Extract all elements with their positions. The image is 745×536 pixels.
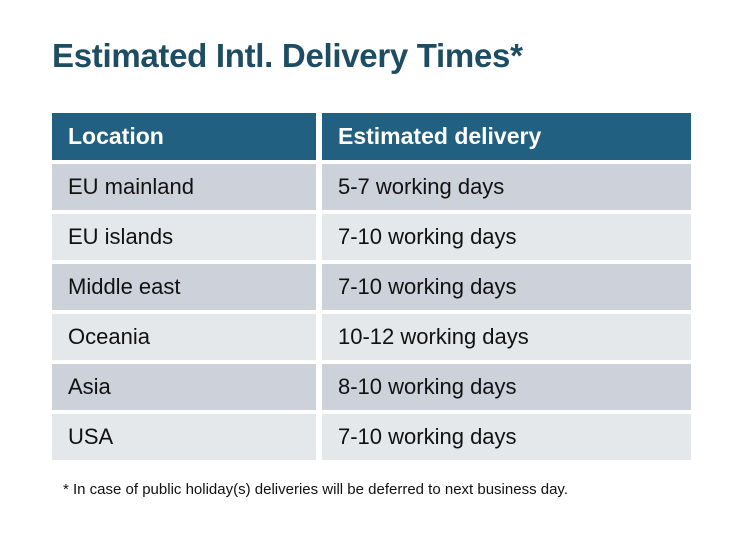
cell-location: Middle east (52, 264, 316, 310)
table-row: Middle east 7-10 working days (52, 264, 691, 310)
table-row: EU mainland 5-7 working days (52, 164, 691, 210)
cell-location: Asia (52, 364, 316, 410)
cell-estimated-delivery: 7-10 working days (322, 264, 691, 310)
cell-location: EU mainland (52, 164, 316, 210)
cell-estimated-delivery: 8-10 working days (322, 364, 691, 410)
column-header-estimated-delivery: Estimated delivery (322, 113, 691, 160)
table-row: Oceania 10-12 working days (52, 314, 691, 360)
cell-estimated-delivery: 7-10 working days (322, 214, 691, 260)
cell-location: EU islands (52, 214, 316, 260)
column-header-location: Location (52, 113, 316, 160)
cell-estimated-delivery: 10-12 working days (322, 314, 691, 360)
delivery-times-page: Estimated Intl. Delivery Times* Location… (0, 0, 745, 536)
cell-location: Oceania (52, 314, 316, 360)
delivery-times-table: Location Estimated delivery EU mainland … (52, 113, 691, 460)
table-row: Asia 8-10 working days (52, 364, 691, 410)
cell-estimated-delivery: 5-7 working days (322, 164, 691, 210)
cell-estimated-delivery: 7-10 working days (322, 414, 691, 460)
footnote-text: * In case of public holiday(s) deliverie… (63, 481, 568, 498)
table-row: EU islands 7-10 working days (52, 214, 691, 260)
table-header-row: Location Estimated delivery (52, 113, 691, 160)
page-title: Estimated Intl. Delivery Times* (52, 37, 523, 75)
table-row: USA 7-10 working days (52, 414, 691, 460)
cell-location: USA (52, 414, 316, 460)
